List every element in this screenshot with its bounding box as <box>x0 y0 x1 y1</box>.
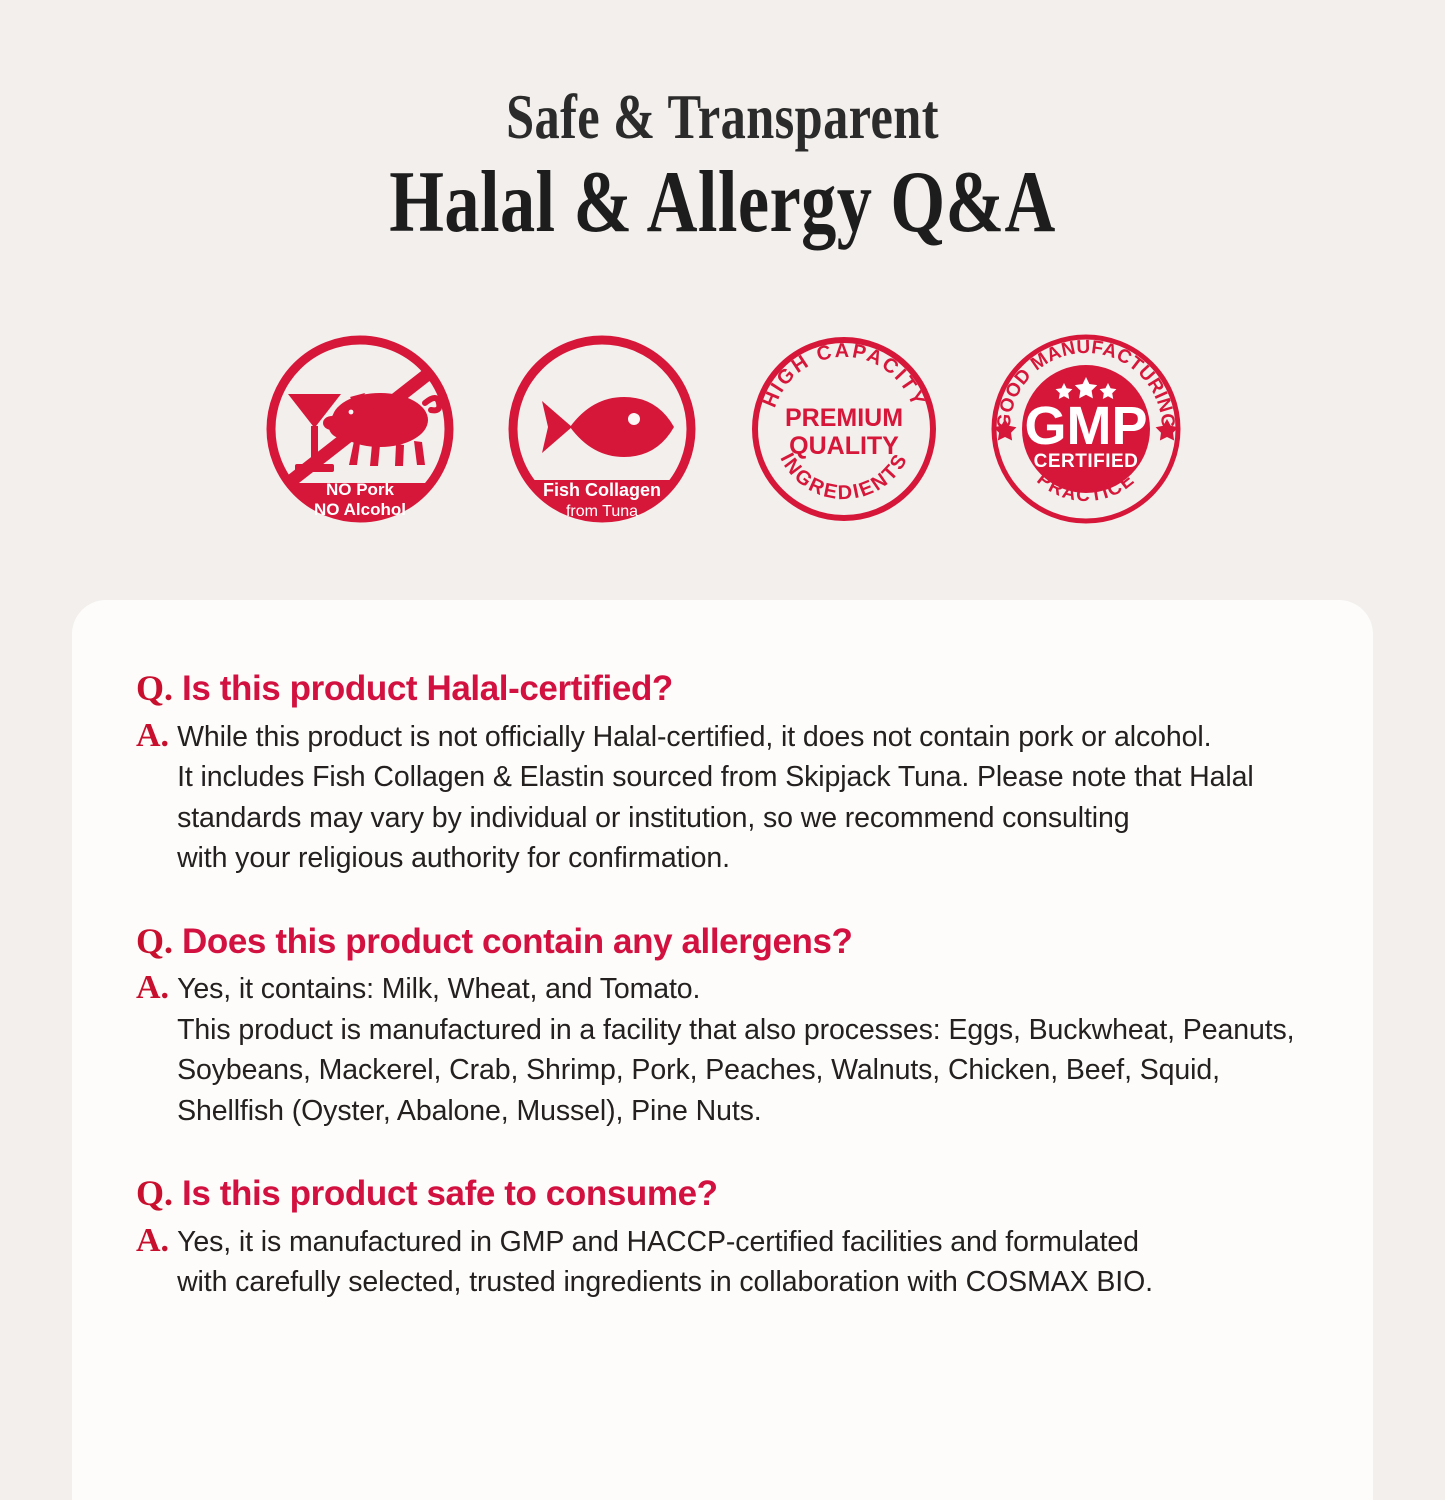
qa-card: Q. Is this product Halal-certified? A. W… <box>72 600 1373 1500</box>
badge-label-line1: Fish Collagen <box>542 480 660 500</box>
question-marker: Q. <box>136 670 173 706</box>
answer-text: Yes, it is manufactured in GMP and HACCP… <box>177 1222 1153 1303</box>
answer-marker: A. <box>136 719 169 753</box>
badge-center-main: GMP <box>1024 396 1147 456</box>
answer-marker: A. <box>136 1224 169 1258</box>
qa-item: Q. Does this product contain any allerge… <box>136 923 1333 1132</box>
qa-question: Q. Does this product contain any allerge… <box>136 923 1333 962</box>
question-text: Is this product safe to consume? <box>182 1175 718 1214</box>
badge-gmp-certified: GOOD MANUFACTURING PRACTICE GMP <box>988 331 1184 527</box>
qa-answer: A. Yes, it contains: Milk, Wheat, and To… <box>136 967 1333 1131</box>
qa-item: Q. Is this product safe to consume? A. Y… <box>136 1175 1333 1303</box>
question-marker: Q. <box>136 1175 173 1211</box>
page-title: Halal & Allergy Q&A <box>145 155 1301 250</box>
badge-no-pork-no-alcohol: NO Pork NO Alcohol <box>262 331 458 527</box>
question-marker: Q. <box>136 923 173 959</box>
qa-question: Q. Is this product Halal-certified? <box>136 670 1333 709</box>
badge-premium-quality: HIGH CAPACITY INGREDIENTS PREMIUM QUALIT… <box>746 331 942 527</box>
answer-marker: A. <box>136 971 169 1005</box>
qa-list: Q. Is this product Halal-certified? A. W… <box>136 670 1333 1303</box>
badge-label-line2: from Tuna <box>565 503 637 520</box>
badge-arc-top: HIGH CAPACITY <box>758 340 928 411</box>
answer-text: Yes, it contains: Milk, Wheat, and Tomat… <box>177 969 1294 1131</box>
badge-center-line2: QUALITY <box>789 432 899 460</box>
badge-label-line2: NO Alcohol <box>314 500 406 519</box>
certification-badge-row: NO Pork NO Alcohol Fish Collagen from Tu… <box>0 331 1445 527</box>
badge-center-sub: CERTIFIED <box>1033 451 1138 472</box>
badge-label-line1: NO Pork <box>325 480 394 499</box>
qa-item: Q. Is this product Halal-certified? A. W… <box>136 670 1333 879</box>
page-header: Safe & Transparent Halal & Allergy Q&A <box>0 0 1445 250</box>
qa-answer: A. While this product is not officially … <box>136 715 1333 879</box>
question-text: Is this product Halal-certified? <box>182 670 673 709</box>
question-text: Does this product contain any allergens? <box>182 923 853 962</box>
qa-answer: A. Yes, it is manufactured in GMP and HA… <box>136 1220 1333 1303</box>
qa-question: Q. Is this product safe to consume? <box>136 1175 1333 1214</box>
header-eyebrow: Safe & Transparent <box>145 86 1301 149</box>
answer-text: While this product is not officially Hal… <box>177 717 1254 879</box>
badge-center-line1: PREMIUM <box>784 404 902 432</box>
badge-fish-collagen: Fish Collagen from Tuna <box>504 331 700 527</box>
